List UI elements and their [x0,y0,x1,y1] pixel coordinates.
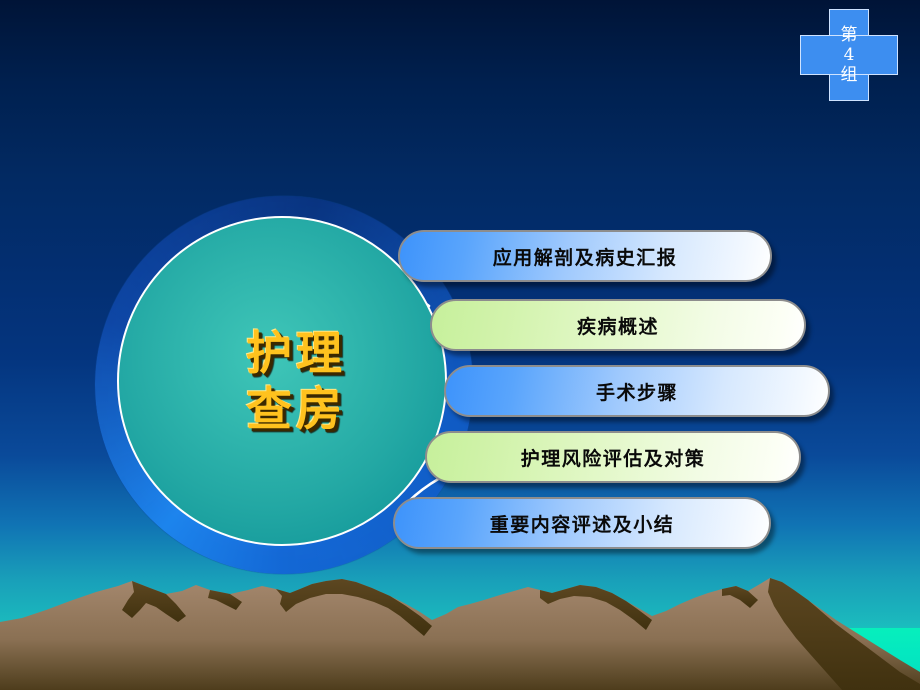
agenda-item-5[interactable]: 重要内容评述及小结 [393,497,771,549]
mountain-terrain [0,560,920,690]
presentation-slide: 护理 查房 应用解剖及病史汇报 疾病概述 手术步骤 护理风险评估及对策 重要内容… [0,0,920,690]
agenda-item-1-label: 应用解剖及病史汇报 [493,243,678,270]
group-badge-label: 第 4 组 [800,9,898,101]
group-badge: 第 4 组 [800,9,898,101]
agenda-item-4-label: 护理风险评估及对策 [521,444,706,471]
central-circle: 护理 查房 [117,216,447,546]
agenda-item-3-label: 手术步骤 [596,378,678,405]
agenda-item-4[interactable]: 护理风险评估及对策 [425,431,801,483]
agenda-item-1[interactable]: 应用解剖及病史汇报 [398,230,772,282]
agenda-item-2-label: 疾病概述 [577,312,659,339]
agenda-item-2[interactable]: 疾病概述 [430,299,806,351]
agenda-item-3[interactable]: 手术步骤 [444,365,830,417]
agenda-item-5-label: 重要内容评述及小结 [490,510,675,537]
page-title: 护理 查房 [246,325,346,437]
